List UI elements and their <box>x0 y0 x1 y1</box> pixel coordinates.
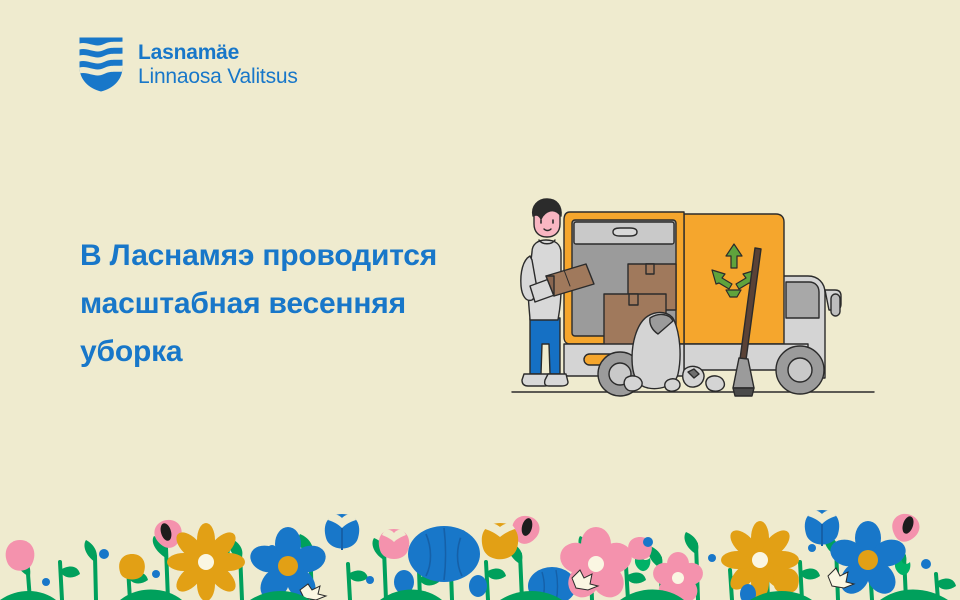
headline-line-2: масштабная весенняя <box>80 280 500 328</box>
person-jeans <box>530 318 560 374</box>
logo-block[interactable]: Lasnamäe Linnaosa Valitsus <box>78 36 298 93</box>
headline-line-1: В Ласнамяэ проводится <box>80 232 500 280</box>
flower-border-svg <box>0 490 960 600</box>
illustration-svg <box>508 198 880 404</box>
pink-five-petal-flowers <box>556 527 706 600</box>
cargo-door-handle <box>613 228 637 236</box>
person-shoe-right <box>545 374 568 386</box>
spring-flower-border <box>0 490 960 600</box>
poster-canvas: Lasnamäe Linnaosa Valitsus В Ласнамяэ пр… <box>0 0 960 600</box>
spring-cleaning-truck-illustration <box>508 198 880 404</box>
logo-line-primary: Lasnamäe <box>138 41 298 65</box>
logo-line-secondary: Linnaosa Valitsus <box>138 65 298 89</box>
page-title: В Ласнамяэ проводится масштабная весення… <box>80 232 500 376</box>
shield-wave-icon <box>78 36 124 93</box>
truck-front-wheel <box>776 346 824 394</box>
logo-wordmark: Lasnamäe Linnaosa Valitsus <box>138 41 298 88</box>
headline-line-3: уборка <box>80 328 500 376</box>
